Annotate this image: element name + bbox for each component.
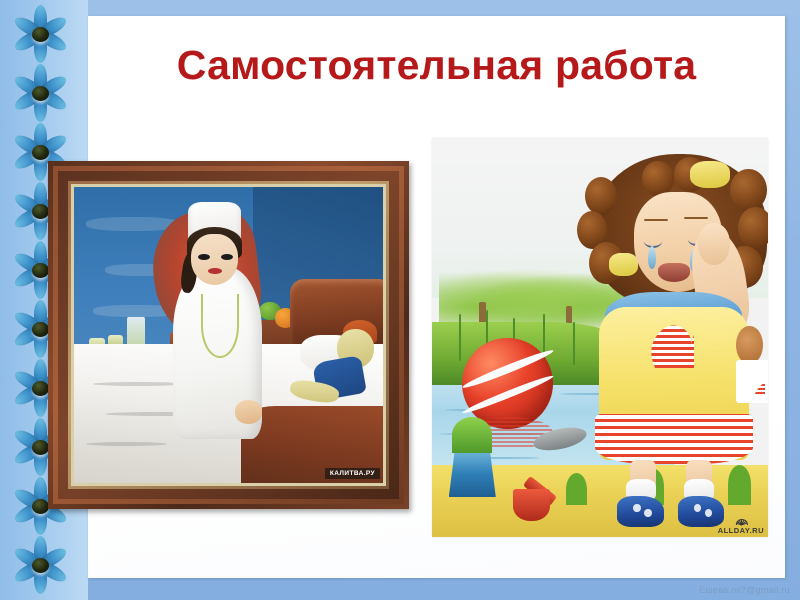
nurse-eye bbox=[198, 254, 210, 261]
eyebrow bbox=[684, 217, 708, 219]
shoe-dot bbox=[694, 504, 701, 512]
hair-curl bbox=[730, 169, 766, 211]
nurse-and-patient-watercolor: КАЛИТВА.РУ bbox=[74, 187, 383, 483]
flower-center bbox=[32, 381, 49, 396]
flower-center bbox=[32, 322, 49, 337]
nurse-head bbox=[191, 234, 237, 284]
hair-curl bbox=[642, 161, 674, 195]
hair-ribbon bbox=[609, 253, 637, 276]
painting-watermark: КАЛИТВА.РУ bbox=[325, 468, 380, 479]
shoe-dot bbox=[644, 509, 651, 517]
presentation-slide: Самостоятельная работа bbox=[0, 0, 800, 600]
sheet-fold bbox=[86, 442, 166, 446]
flower-icon bbox=[8, 61, 72, 125]
page-title: Самостоятельная работа bbox=[88, 42, 785, 89]
reed-blade bbox=[459, 314, 461, 362]
teddy-bear-toy bbox=[736, 326, 762, 364]
striped-skirt-hem bbox=[595, 414, 752, 464]
flower-icon bbox=[8, 533, 72, 597]
flower-center bbox=[32, 145, 49, 160]
slide-watermark: Ешева.ок?@gmail.ru bbox=[699, 585, 790, 595]
eyebrow bbox=[644, 219, 668, 221]
blue-bucket bbox=[449, 445, 496, 497]
flower-center bbox=[32, 27, 49, 42]
girl-mouth bbox=[658, 263, 690, 282]
illustration-watermark-label: ALLDAY.RU bbox=[718, 526, 764, 535]
nurse-hand bbox=[235, 400, 263, 424]
nurse-eye bbox=[221, 254, 233, 261]
tear-drop bbox=[648, 246, 656, 269]
red-spade bbox=[513, 489, 550, 521]
crying-girl bbox=[573, 146, 768, 529]
girl-fist bbox=[698, 223, 730, 265]
shoe-dot bbox=[633, 504, 640, 512]
flower-center bbox=[32, 263, 49, 278]
crying-girl-illustration[interactable]: ALLDAY.RU bbox=[432, 138, 768, 537]
blue-shoe bbox=[617, 496, 663, 527]
hair-curl bbox=[738, 207, 768, 249]
sun-icon bbox=[732, 516, 750, 525]
nurse-painting-frame[interactable]: КАЛИТВА.РУ bbox=[48, 161, 409, 509]
shoe-dot bbox=[705, 509, 712, 517]
flower-center bbox=[32, 204, 49, 219]
flower-center bbox=[32, 440, 49, 455]
flower-center bbox=[32, 499, 49, 514]
flower-center bbox=[32, 558, 49, 573]
bucket-grass bbox=[452, 417, 492, 453]
flower-icon bbox=[8, 2, 72, 66]
illustration-watermark: ALLDAY.RU bbox=[718, 516, 764, 535]
heart-pocket bbox=[736, 360, 768, 402]
ball-stripe bbox=[461, 347, 555, 391]
stethoscope-icon bbox=[201, 294, 239, 358]
hair-ribbon bbox=[690, 161, 730, 188]
flower-center bbox=[32, 86, 49, 101]
red-ball bbox=[462, 338, 553, 430]
